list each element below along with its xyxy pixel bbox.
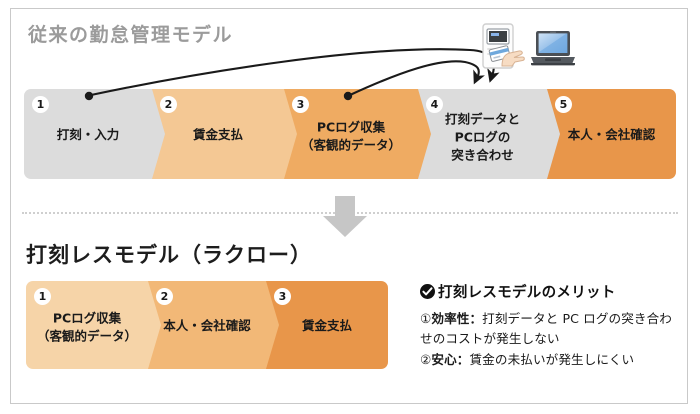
legacy-step-1: 1打刻・入力 [24,89,152,179]
legacy-model-flow: 1打刻・入力2賃金支払3PCログ収集（客観的データ）4打刻データとPCログの突き… [24,89,676,179]
merit-key-2: 安心： [431,352,469,367]
merit-key-1: 効率性： [431,311,482,326]
chevron-notch-icon [148,281,161,369]
merit-number-2: ② [420,352,431,367]
check-circle-icon [420,284,435,299]
rakuro-step-label-3: 賃金支払 [266,317,388,335]
merits-list: ①効率性：打刻データと PC ログの突き合わせのコストが発生しない②安心：賃金の… [420,309,678,370]
merits-heading-text: 打刻レスモデルのメリット [438,281,616,302]
top-section-title: 従来の勤怠管理モデル [28,20,233,47]
bottom-section-title: 打刻レスモデル（ラクロー） [26,239,312,269]
legacy-step-label-4: 打刻データとPCログの突き合わせ [418,111,547,164]
rakuro-step-label-2: 本人・会社確認 [148,317,266,335]
laptop-icon [529,29,577,67]
rakuro-model-flow: 1PCログ収集（客観的データ）2本人・会社確認3賃金支払 [26,281,388,369]
legacy-step-4: 4打刻データとPCログの突き合わせ [418,89,547,179]
legacy-step-5: 5本人・会社確認 [547,89,676,179]
rakuro-step-1: 1PCログ収集（客観的データ） [26,281,148,369]
legacy-step-label-2: 賃金支払 [152,126,284,144]
down-arrow-icon [322,196,368,238]
legacy-step-3: 3PCログ収集（客観的データ） [284,89,418,179]
chevron-notch-icon [284,89,297,179]
chevron-notch-icon [418,89,431,179]
merit-item-1: ①効率性：打刻データと PC ログの突き合わせのコストが発生しない [420,309,678,349]
card-reader-icon [478,22,526,74]
chevron-notch-icon [266,281,279,369]
slide-canvas: 従来の勤怠管理モデル 1打刻・入力2賃金支払3PCログ収集（客観的データ）4打刻… [0,0,700,414]
merits-heading: 打刻レスモデルのメリット [420,281,678,302]
chevron-notch-icon [152,89,165,179]
legacy-step-2: 2賃金支払 [152,89,284,179]
merit-number-1: ① [420,311,431,326]
legacy-step-label-3: PCログ収集（客観的データ） [284,118,418,154]
legacy-step-label-5: 本人・会社確認 [547,126,676,144]
merits-panel: 打刻レスモデルのメリット ①効率性：打刻データと PC ログの突き合わせのコスト… [420,281,678,371]
rakuro-step-label-1: PCログ収集（客観的データ） [26,309,148,345]
legacy-step-label-1: 打刻・入力 [24,126,152,144]
rakuro-step-3: 3賃金支払 [266,281,388,369]
merit-text-2: 賃金の未払いが発生しにくい [469,352,634,367]
rakuro-step-2: 2本人・会社確認 [148,281,266,369]
legacy-step-badge-1: 1 [32,96,49,113]
merit-item-2: ②安心：賃金の未払いが発生しにくい [420,350,678,370]
chevron-notch-icon [547,89,560,179]
rakuro-step-badge-1: 1 [34,288,51,305]
